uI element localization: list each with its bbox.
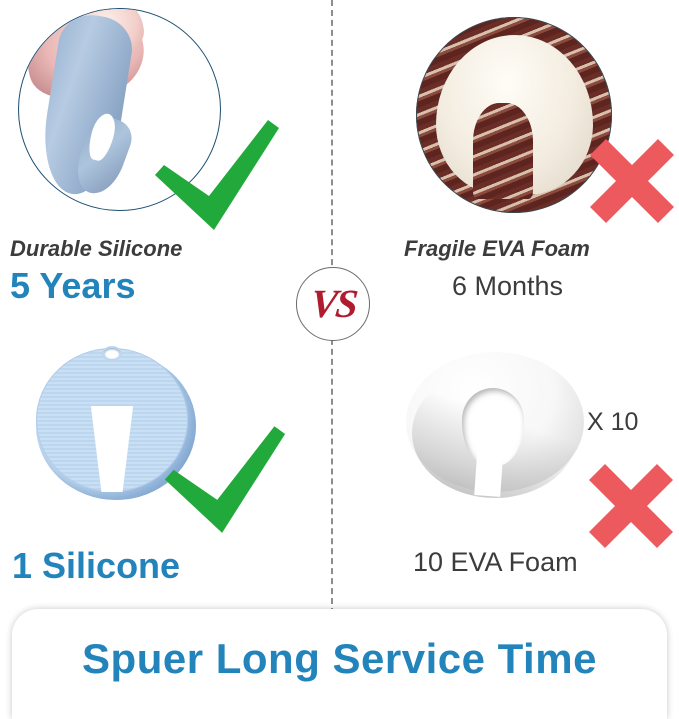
eva-foam-ring-image xyxy=(406,352,584,500)
check-icon xyxy=(152,118,282,233)
banner-headline: Spuer Long Service Time xyxy=(82,635,597,683)
eva-gap-shape xyxy=(474,443,504,497)
vs-label: VS xyxy=(308,284,357,324)
label-10-eva-foam: 10 EVA Foam xyxy=(413,547,578,578)
label-1-silicone: 1 Silicone xyxy=(12,545,180,587)
label-x10-multiplier: X 10 xyxy=(587,408,638,437)
bottom-banner: Spuer Long Service Time xyxy=(12,609,667,719)
foam-ring-gap-shape xyxy=(473,103,533,199)
cross-icon xyxy=(590,139,674,223)
vs-badge: VS xyxy=(296,267,370,341)
cross-icon xyxy=(589,464,673,548)
cell-top-left-durable-silicone: Durable Silicone 5 Years xyxy=(0,0,331,310)
cell-top-right-fragile-eva-foam: Fragile EVA Foam 6 Months xyxy=(340,0,679,310)
label-6-months: 6 Months xyxy=(452,271,563,302)
eva-foam-product-photo-circle xyxy=(416,17,612,213)
comparison-infographic: Durable Silicone 5 Years Fragile EVA Foa… xyxy=(0,0,679,719)
disc-hole-shape xyxy=(104,348,120,359)
label-5-years: 5 Years xyxy=(10,265,135,307)
cell-bottom-left-one-silicone: 1 Silicone xyxy=(0,336,331,614)
label-durable-silicone: Durable Silicone xyxy=(10,236,182,262)
cell-bottom-right-ten-eva-foam: X 10 10 EVA Foam xyxy=(340,336,679,614)
check-icon xyxy=(162,424,288,536)
label-fragile-eva-foam: Fragile EVA Foam xyxy=(404,236,590,262)
